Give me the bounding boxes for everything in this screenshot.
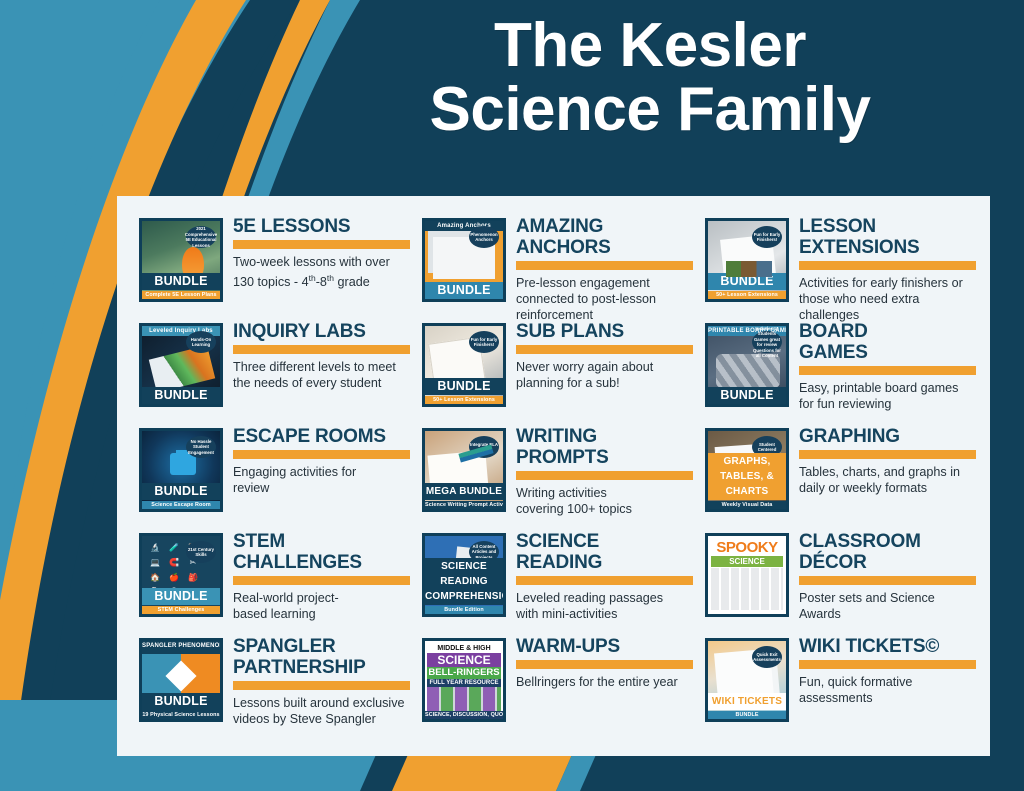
product-description: Easy, printable board games for fun revi… bbox=[799, 380, 976, 412]
product-meta: AMAZING ANCHORSPre-lesson engagement con… bbox=[516, 212, 693, 323]
bellringer-line: FULL YEAR RESOURCE bbox=[427, 679, 501, 687]
product-description: Leveled reading passages with mini-activ… bbox=[516, 590, 693, 622]
product-meta: 5E LESSONSTwo-week lessons with over 130… bbox=[233, 212, 410, 290]
decor-title: SPOOKY bbox=[711, 540, 783, 556]
product-meta: SPANGLER PARTNERSHIPLessons built around… bbox=[233, 632, 410, 727]
orange-rule bbox=[516, 471, 693, 480]
product-title: SCIENCE READING bbox=[516, 531, 693, 573]
product-grid: 2021 Comprehensive 5E Educational Lesson… bbox=[139, 212, 976, 746]
product-title: GRAPHING bbox=[799, 426, 976, 447]
product-item[interactable]: Integrate ELA SkillsScience Writing Prom… bbox=[422, 422, 693, 527]
poster-canvas: The Kesler Science Family 2021 Comprehen… bbox=[0, 0, 1024, 791]
product-item[interactable]: 2021 Comprehensive 5E Educational Lesson… bbox=[139, 212, 410, 317]
thumbnail-band-label: SCIENCE, DISCUSSION, QUOTES & MORE bbox=[425, 711, 503, 719]
thumbnail-badge: No Hassle Student Engagement bbox=[186, 436, 216, 458]
product-column: 2021 Comprehensive 5E Educational Lesson… bbox=[139, 212, 410, 746]
product-thumbnail[interactable]: Fun for Early Finishers!50+ Lesson Exten… bbox=[422, 317, 506, 407]
thumbnail-caption: BUNDLE bbox=[142, 693, 220, 710]
product-description: Never worry again about planning for a s… bbox=[516, 359, 693, 391]
product-meta: WRITING PROMPTSWriting activities coveri… bbox=[516, 422, 693, 517]
orange-rule bbox=[799, 660, 976, 669]
thumbnail-band-label: 50+ Lesson Extensions bbox=[425, 396, 503, 404]
product-thumbnail[interactable]: SPANGLER PHENOMENON19 Physical Science L… bbox=[139, 632, 223, 722]
thumbnail-badge: Fun for Early Finishers! bbox=[469, 331, 499, 353]
thumbnail-caption: BUNDLE bbox=[142, 588, 220, 605]
poster-title: The Kesler Science Family bbox=[300, 14, 1000, 142]
product-title: WARM-UPS bbox=[516, 636, 693, 657]
thumbnail-caption: BUNDLE bbox=[708, 387, 786, 404]
product-meta: STEM CHALLENGESReal-world project- based… bbox=[233, 527, 410, 622]
product-thumbnail[interactable]: SPOOKYSCIENCE POSTERS bbox=[705, 527, 789, 617]
product-title: WRITING PROMPTS bbox=[516, 426, 693, 468]
thumbnail-badge: Fun for Early Finishers! bbox=[752, 226, 782, 248]
thumbnail-band-label: Weekly Visual Data bbox=[708, 501, 786, 509]
product-title: BOARD GAMES bbox=[799, 321, 976, 363]
product-title: SPANGLER PARTNERSHIP bbox=[233, 636, 410, 678]
decor-subtitle: SCIENCE POSTERS bbox=[711, 556, 783, 567]
thumbnail-caption: BUNDLE bbox=[142, 273, 220, 290]
product-item[interactable]: No Hassle Student EngagementScience Esca… bbox=[139, 422, 410, 527]
thumbnail-top-label: SPANGLER PHENOMENON bbox=[142, 641, 220, 651]
bellringer-preview bbox=[427, 687, 501, 713]
bellringer-line: MIDDLE & HIGH bbox=[427, 644, 501, 653]
orange-rule bbox=[233, 240, 410, 249]
thumbnail-band-label: 19 Physical Science Lessons bbox=[142, 711, 220, 719]
product-thumbnail[interactable]: Quick Exit AssessmentsBUNDLEWIKI TICKETS bbox=[705, 632, 789, 722]
orange-rule bbox=[233, 450, 410, 459]
product-description: Fun, quick formative assessments bbox=[799, 674, 976, 706]
product-title: INQUIRY LABS bbox=[233, 321, 410, 342]
orange-rule bbox=[233, 576, 410, 585]
product-item[interactable]: Student CenteredWeekly Visual DataGRAPHS… bbox=[705, 422, 976, 527]
thumbnail-caption: BUNDLE bbox=[142, 387, 220, 404]
product-description: Real-world project- based learning bbox=[233, 590, 410, 622]
product-item[interactable]: SPANGLER PHENOMENON19 Physical Science L… bbox=[139, 632, 410, 737]
product-meta: BOARD GAMESEasy, printable board games f… bbox=[799, 317, 976, 412]
orange-rule bbox=[516, 345, 693, 354]
product-item[interactable]: Amazing AnchorsPhenomenon AnchorsBUNDLEA… bbox=[422, 212, 693, 317]
product-thumbnail[interactable]: Amazing AnchorsPhenomenon AnchorsBUNDLE bbox=[422, 212, 506, 302]
thumbnail-band-label: STEM Challenges bbox=[142, 606, 220, 614]
grade-superscript: th bbox=[309, 273, 316, 283]
thumbnail-badge: Includes 10 Students Games great for rev… bbox=[752, 331, 782, 353]
product-title: SUB PLANS bbox=[516, 321, 693, 342]
product-description: Two-week lessons with over 130 topics - … bbox=[233, 254, 410, 290]
thumbnail-badge: Quick Exit Assessments bbox=[752, 646, 782, 668]
thumbnail-badge: Hands-On Learning bbox=[186, 331, 216, 353]
thumbnail-badge: 2021 Comprehensive 5E Educational Lesson… bbox=[186, 226, 216, 248]
product-description: Lessons built around exclusive videos by… bbox=[233, 695, 410, 727]
thumbnail-band-label: BUNDLE bbox=[708, 711, 786, 719]
product-column: Amazing AnchorsPhenomenon AnchorsBUNDLEA… bbox=[422, 212, 693, 746]
product-title: ESCAPE ROOMS bbox=[233, 426, 410, 447]
product-item[interactable]: MIDDLE & HIGHSCIENCEBELL-RINGERSFULL YEA… bbox=[422, 632, 693, 737]
orange-rule bbox=[516, 576, 693, 585]
product-thumbnail[interactable]: Fun for Early Finishers!50+ Lesson Exten… bbox=[705, 212, 789, 302]
title-line-1: The Kesler bbox=[300, 14, 1000, 78]
product-meta: GRAPHINGTables, charts, and graphs in da… bbox=[799, 422, 976, 496]
orange-rule bbox=[516, 660, 693, 669]
thumbnail-band-label: Complete 5E Lesson Plans bbox=[142, 291, 220, 299]
thumbnail-band-label: Bundle Edition bbox=[425, 606, 503, 614]
thumbnail-band-label: Science Writing Prompt Activities bbox=[425, 501, 503, 509]
product-thumbnail[interactable]: Integrate ELA SkillsScience Writing Prom… bbox=[422, 422, 506, 512]
product-item[interactable]: PRINTABLE BOARD GAMEIncludes 10 Students… bbox=[705, 317, 976, 422]
orange-rule bbox=[799, 450, 976, 459]
product-thumbnail[interactable]: PRINTABLE BOARD GAMEIncludes 10 Students… bbox=[705, 317, 789, 407]
product-thumbnail[interactable]: 🔬🧪🔭💻🧲✂🏠🍎🎒🚂🏛⚙21st Century SkillsSTEM Chal… bbox=[139, 527, 223, 617]
product-title: WIKI TICKETS© bbox=[799, 636, 976, 657]
product-column: Fun for Early Finishers!50+ Lesson Exten… bbox=[705, 212, 976, 746]
grade-superscript: th bbox=[327, 273, 334, 283]
product-item[interactable]: SPOOKYSCIENCE POSTERSCLASSROOM DÉCORPost… bbox=[705, 527, 976, 632]
thumbnail-band-label: Science Escape Room bbox=[142, 501, 220, 509]
product-description: Three different levels to meet the needs… bbox=[233, 359, 410, 391]
thumbnail-badge: 21st Century Skills bbox=[186, 541, 216, 563]
product-meta: CLASSROOM DÉCORPoster sets and Science A… bbox=[799, 527, 976, 622]
orange-rule bbox=[516, 261, 693, 270]
product-title: AMAZING ANCHORS bbox=[516, 216, 693, 258]
product-meta: LESSON EXTENSIONSActivities for early fi… bbox=[799, 212, 976, 323]
product-description: Engaging activities for review bbox=[233, 464, 410, 496]
product-meta: WARM-UPSBellringers for the entire year bbox=[516, 632, 693, 690]
orange-rule bbox=[233, 681, 410, 690]
product-meta: INQUIRY LABSThree different levels to me… bbox=[233, 317, 410, 391]
thumbnail-caption: BUNDLE bbox=[425, 378, 503, 395]
bellringer-line: BELL-RINGERS bbox=[427, 667, 501, 679]
product-description: Poster sets and Science Awards bbox=[799, 590, 976, 622]
thumbnail-caption: BUNDLE bbox=[425, 282, 503, 299]
thumbnail-caption: GRAPHS, TABLES, & CHARTS bbox=[708, 453, 786, 500]
product-title: LESSON EXTENSIONS bbox=[799, 216, 976, 258]
photo-strip bbox=[726, 261, 772, 277]
thumbnail-band-label: 50+ Lesson Extensions bbox=[708, 291, 786, 299]
product-thumbnail[interactable]: 2021 Comprehensive 5E Educational Lesson… bbox=[139, 212, 223, 302]
product-title: STEM CHALLENGES bbox=[233, 531, 410, 573]
product-description: Activities for early finishers or those … bbox=[799, 275, 976, 323]
thumbnail-caption: WIKI TICKETS bbox=[708, 693, 786, 710]
orange-rule bbox=[799, 261, 976, 270]
thumbnail-caption: MEGA BUNDLE bbox=[425, 483, 503, 500]
orange-rule bbox=[233, 345, 410, 354]
product-description: Pre-lesson engagement connected to post-… bbox=[516, 275, 693, 323]
product-thumbnail[interactable]: All Content Articles and ProjectsBundle … bbox=[422, 527, 506, 617]
bellringer-line: SCIENCE bbox=[427, 653, 501, 667]
product-description: Writing activities covering 100+ topics bbox=[516, 485, 693, 517]
thumbnail-caption: SCIENCE READING COMPREHENSION bbox=[425, 558, 503, 605]
orange-rule bbox=[799, 576, 976, 585]
product-description: Bellringers for the entire year bbox=[516, 674, 693, 690]
product-item[interactable]: Fun for Early Finishers!50+ Lesson Exten… bbox=[705, 212, 976, 317]
product-title: CLASSROOM DÉCOR bbox=[799, 531, 976, 573]
product-meta: ESCAPE ROOMSEngaging activities for revi… bbox=[233, 422, 410, 496]
product-meta: SCIENCE READINGLeveled reading passages … bbox=[516, 527, 693, 622]
thumbnail-badge: Phenomenon Anchors bbox=[469, 226, 499, 248]
product-item[interactable]: 🔬🧪🔭💻🧲✂🏠🍎🎒🚂🏛⚙21st Century SkillsSTEM Chal… bbox=[139, 527, 410, 632]
product-meta: WIKI TICKETS©Fun, quick formative assess… bbox=[799, 632, 976, 706]
product-thumbnail[interactable]: No Hassle Student EngagementScience Esca… bbox=[139, 422, 223, 512]
product-item[interactable]: Leveled Inquiry LabsHands-On LearningBUN… bbox=[139, 317, 410, 422]
decor-poster-grid bbox=[711, 568, 783, 610]
product-grid-card: 2021 Comprehensive 5E Educational Lesson… bbox=[117, 196, 990, 756]
orange-rule bbox=[799, 366, 976, 375]
product-item[interactable]: All Content Articles and ProjectsBundle … bbox=[422, 527, 693, 632]
product-description: Tables, charts, and graphs in daily or w… bbox=[799, 464, 976, 496]
thumbnail-caption: BUNDLE bbox=[142, 483, 220, 500]
product-item[interactable]: Fun for Early Finishers!50+ Lesson Exten… bbox=[422, 317, 693, 422]
product-title: 5E LESSONS bbox=[233, 216, 410, 237]
product-thumbnail[interactable]: MIDDLE & HIGHSCIENCEBELL-RINGERSFULL YEA… bbox=[422, 632, 506, 722]
product-meta: SUB PLANSNever worry again about plannin… bbox=[516, 317, 693, 391]
title-line-2: Science Family bbox=[300, 78, 1000, 142]
product-thumbnail[interactable]: Leveled Inquiry LabsHands-On LearningBUN… bbox=[139, 317, 223, 407]
product-thumbnail[interactable]: Student CenteredWeekly Visual DataGRAPHS… bbox=[705, 422, 789, 512]
product-item[interactable]: Quick Exit AssessmentsBUNDLEWIKI TICKETS… bbox=[705, 632, 976, 737]
